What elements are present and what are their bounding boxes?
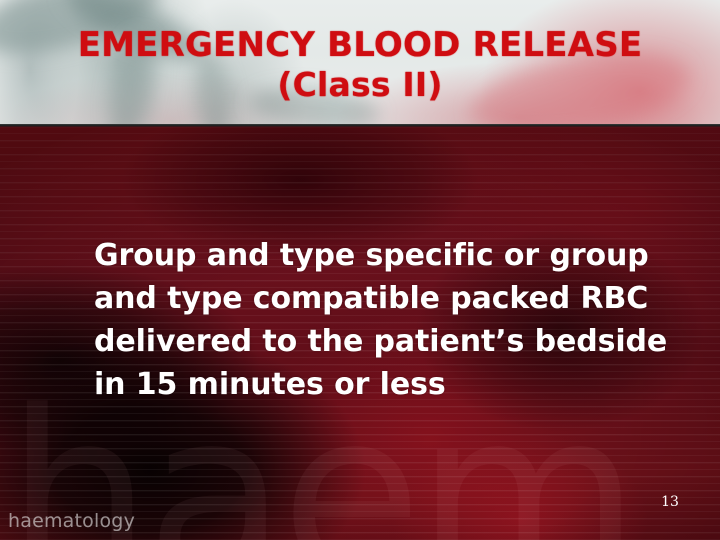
slide-title: EMERGENCY BLOOD RELEASE (Class II) bbox=[0, 26, 720, 104]
footer-brand-label: haematology bbox=[8, 510, 135, 532]
slide-title-line-2: (Class II) bbox=[0, 65, 720, 104]
slide-page-number: 13 bbox=[655, 494, 685, 510]
slide-body-text: Group and type specific or group and typ… bbox=[94, 234, 702, 406]
slide-title-line-1: EMERGENCY BLOOD RELEASE bbox=[78, 25, 643, 65]
header-divider-line bbox=[0, 124, 720, 127]
presentation-slide: haem EMERGENCY BLOOD RELEASE (Class II) … bbox=[0, 0, 720, 540]
